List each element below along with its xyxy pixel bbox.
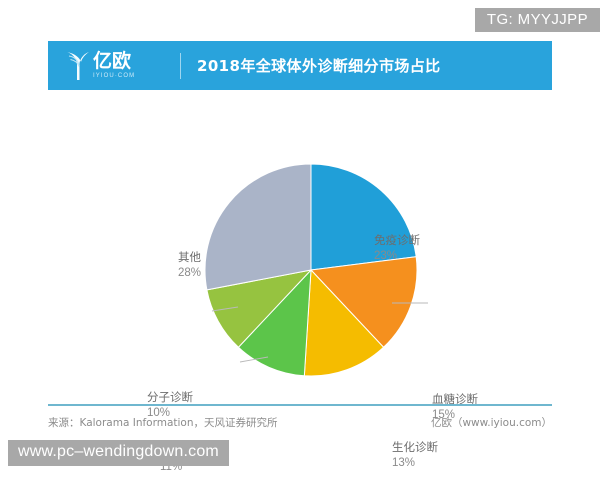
pie-label-other-name: 其他 (178, 250, 201, 266)
pie-chart: 免疫诊断 23% 血糖诊断 15% 生化诊断 13% 及时诊断 11% 分子诊断… (0, 95, 600, 400)
pie-label-biochem-value: 13% (392, 456, 438, 472)
chart-canvas: 亿欧 IYIOU·COM 2018年全球体外诊断细分市场占比 免疫诊断 23% … (0, 0, 600, 480)
logo-english-text: IYIOU·COM (93, 73, 135, 79)
pie-label-immune: 免疫诊断 23% (374, 233, 420, 264)
watermark-bottom-left: www.pc–wendingdown.com (8, 440, 229, 466)
watermark-top-right: TG: MYYJJPP (475, 8, 600, 32)
header-vertical-divider (180, 53, 181, 79)
footer-divider (48, 404, 552, 406)
pie-label-biochem-name: 生化诊断 (392, 440, 438, 456)
pie-label-biochem: 生化诊断 13% (392, 440, 438, 471)
pie-slice-group (205, 164, 417, 376)
chart-header-bar: 亿欧 IYIOU·COM 2018年全球体外诊断细分市场占比 (48, 41, 552, 90)
footer-attribution: 亿欧（www.iyiou.com） (431, 415, 552, 430)
footer-source: 来源：Kalorama Information，天风证券研究所 (48, 415, 278, 430)
pie-label-other-value: 28% (178, 266, 201, 282)
pie-chart-svg (0, 95, 600, 400)
iyiou-logo: 亿欧 IYIOU·COM (64, 50, 176, 82)
footer: 来源：Kalorama Information，天风证券研究所 亿欧（www.i… (48, 412, 552, 432)
pie-label-immune-value: 23% (374, 249, 420, 265)
pie-label-other: 其他 28% (178, 250, 201, 281)
iyiou-tree-logo-icon (64, 50, 90, 82)
page-title: 2018年全球体外诊断细分市场占比 (197, 55, 441, 76)
logo-chinese-text: 亿欧 (93, 52, 135, 71)
pie-slice (205, 164, 311, 290)
logo-wordmark: 亿欧 IYIOU·COM (93, 52, 135, 79)
pie-label-immune-name: 免疫诊断 (374, 233, 420, 249)
